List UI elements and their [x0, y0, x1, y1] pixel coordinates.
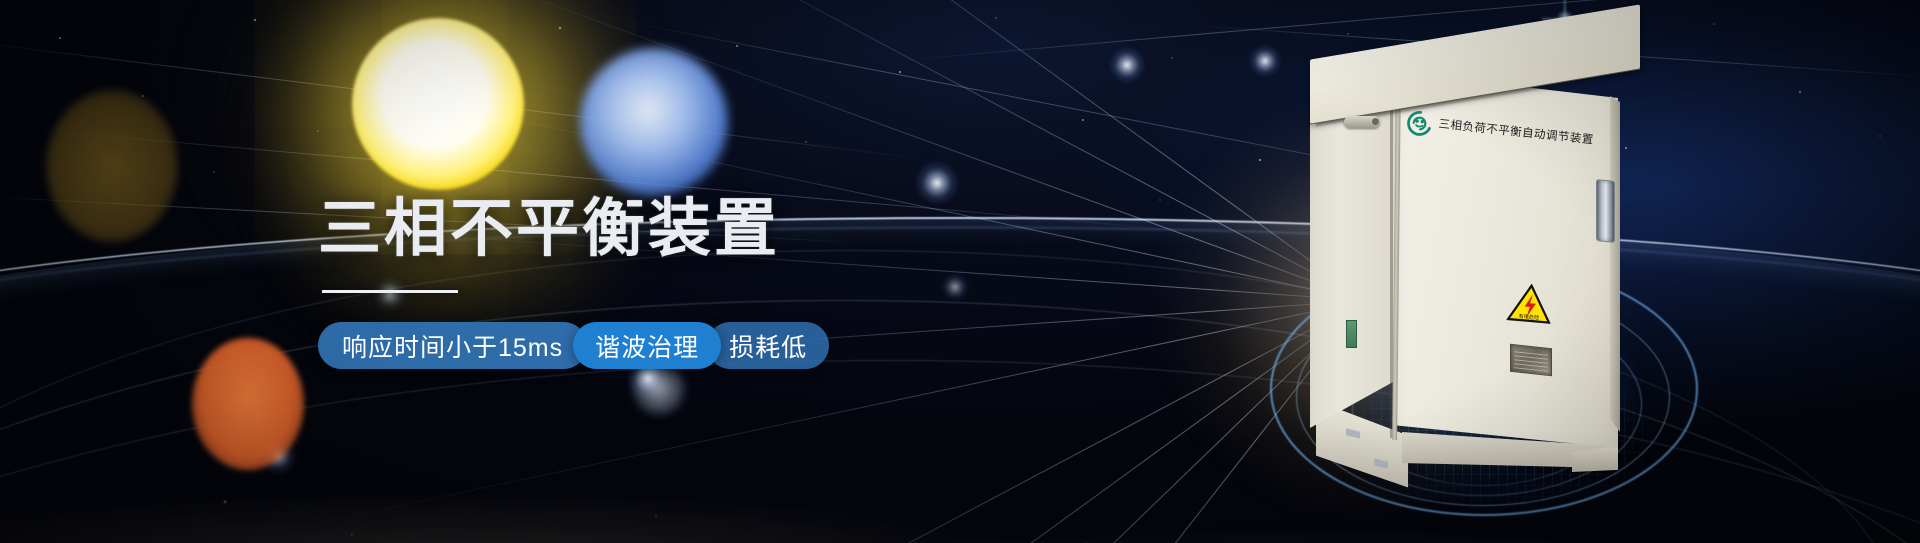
feature-badge-list: 响应时间小于15ms 谐波治理 损耗低	[318, 322, 978, 369]
feature-badge-response-time[interactable]: 响应时间小于15ms	[318, 322, 587, 369]
cabinet-latch-screw	[1372, 118, 1379, 125]
bokeh-orb-yellow	[352, 18, 524, 190]
cabinet-door-handle	[1596, 179, 1615, 243]
company-logo-icon	[1405, 109, 1434, 138]
bokeh-orb-gold	[46, 90, 178, 242]
product-cabinet: 三相负荷不平衡自动调节装置 有电危险	[1310, 28, 1670, 498]
cabinet-side-slot	[1346, 320, 1357, 348]
title-divider	[322, 290, 458, 293]
bokeh-orb-orange	[192, 338, 304, 470]
feature-badge-low-loss[interactable]: 损耗低	[707, 322, 829, 369]
electrical-hazard-icon: 有电危险	[1506, 282, 1553, 326]
page-title: 三相不平衡装置	[318, 196, 978, 262]
bokeh-orb-blue	[580, 48, 728, 196]
bokeh-orb-gray	[632, 362, 686, 416]
cabinet-side-panel	[1310, 80, 1398, 428]
cabinet-nameplate	[1510, 344, 1552, 376]
hero-banner: 三相负荷不平衡自动调节装置 有电危险 三相不平衡装置 响应时间小于15ms 谐波…	[0, 0, 1920, 543]
hero-text-block: 三相不平衡装置 响应时间小于15ms 谐波治理 损耗低	[318, 196, 978, 369]
feature-badge-harmonic[interactable]: 谐波治理	[573, 322, 721, 369]
cabinet-nameplate-lines	[1514, 348, 1548, 372]
